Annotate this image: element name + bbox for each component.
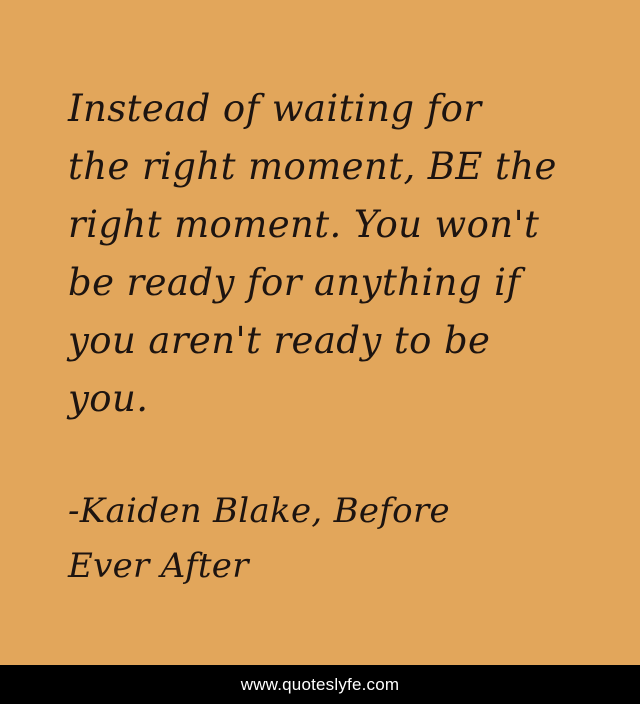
quote-card: Instead of waiting for the right moment,… <box>0 0 640 704</box>
quote-line: Instead of waiting for <box>68 80 580 138</box>
quote-line: the right moment, BE the <box>68 138 580 196</box>
attribution-block: -Kaiden Blake, Before Ever After <box>68 484 580 594</box>
quote-line: right moment. You won't <box>68 196 580 254</box>
quote-line: you. <box>68 370 580 428</box>
attribution-line: -Kaiden Blake, Before <box>68 484 580 539</box>
footer-bar: www.quoteslyfe.com <box>0 665 640 704</box>
quote-line: be ready for anything if <box>68 254 580 312</box>
quote-line: you aren't ready to be <box>68 312 580 370</box>
quote-text-block: Instead of waiting for the right moment,… <box>68 80 580 428</box>
website-url[interactable]: www.quoteslyfe.com <box>241 675 400 695</box>
attribution-line: Ever After <box>68 539 580 594</box>
